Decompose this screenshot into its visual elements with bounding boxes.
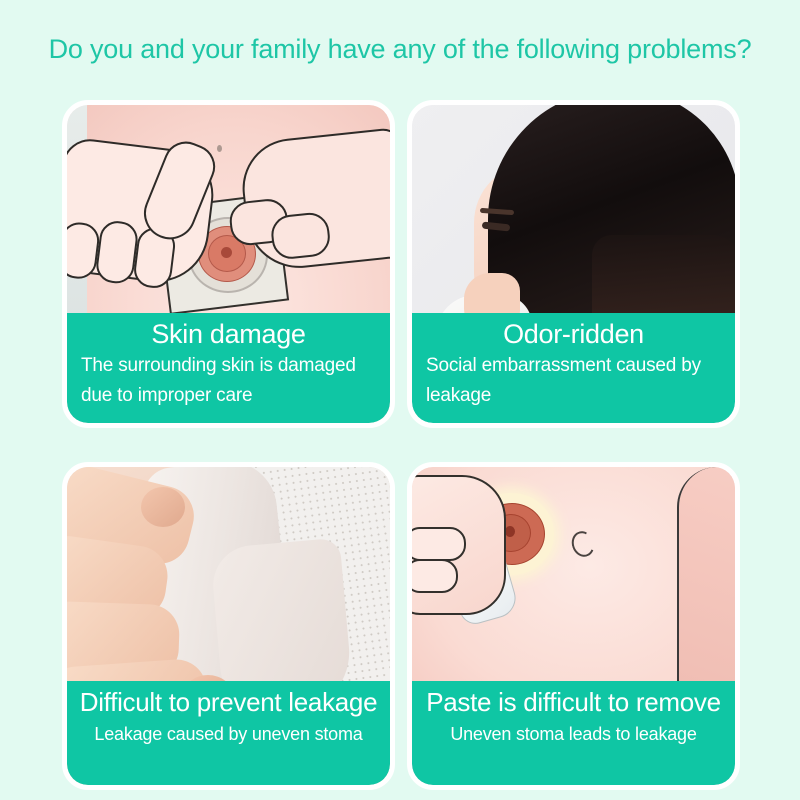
card-caption: Difficult to prevent leakage Leakage cau…: [67, 681, 390, 785]
finger: [67, 220, 101, 280]
card-caption: Skin damage The surrounding skin is dama…: [67, 313, 390, 423]
finger: [412, 559, 458, 593]
stoma-core: [221, 247, 232, 258]
problem-card-difficult-to-prevent-leakage[interactable]: Difficult to prevent leakage Leakage cau…: [62, 462, 395, 790]
right-hand: [238, 127, 390, 273]
hand-peeling-patch: [412, 475, 506, 615]
card-inner: Odor-ridden Social embarrassment caused …: [412, 105, 735, 423]
card-title: Difficult to prevent leakage: [77, 685, 380, 719]
promo-page: Do you and your family have any of the f…: [0, 0, 800, 800]
card-title: Paste is difficult to remove: [422, 685, 725, 719]
card-subtitle: Leakage caused by uneven stoma: [77, 719, 380, 749]
problem-card-odor-ridden[interactable]: Odor-ridden Social embarrassment caused …: [407, 100, 740, 428]
card-inner: Paste is difficult to remove Uneven stom…: [412, 467, 735, 785]
page-title: Do you and your family have any of the f…: [0, 34, 800, 65]
card-inner: Skin damage The surrounding skin is dama…: [67, 105, 390, 423]
card-subtitle: The surrounding skin is damaged due to i…: [77, 351, 380, 411]
problem-card-skin-damage[interactable]: Skin damage The surrounding skin is dama…: [62, 100, 395, 428]
problem-card-paste-is-difficult-to-remove[interactable]: Paste is difficult to remove Uneven stom…: [407, 462, 740, 790]
card-subtitle: Uneven stoma leads to leakage: [422, 719, 725, 749]
finger: [412, 527, 466, 561]
card-caption: Paste is difficult to remove Uneven stom…: [412, 681, 735, 785]
problem-card-grid: Skin damage The surrounding skin is dama…: [62, 100, 740, 788]
card-subtitle: Social embarrassment caused by leakage: [422, 351, 725, 411]
body-side-contour: [677, 467, 735, 697]
card-inner: Difficult to prevent leakage Leakage cau…: [67, 467, 390, 785]
card-caption: Odor-ridden Social embarrassment caused …: [412, 313, 735, 423]
card-title: Skin damage: [77, 317, 380, 351]
skin-blemish-icon: [217, 145, 222, 152]
finger: [269, 211, 331, 261]
card-title: Odor-ridden: [422, 317, 725, 351]
finger: [94, 219, 139, 285]
stoma-core: [505, 526, 515, 537]
fingernail: [141, 487, 185, 527]
